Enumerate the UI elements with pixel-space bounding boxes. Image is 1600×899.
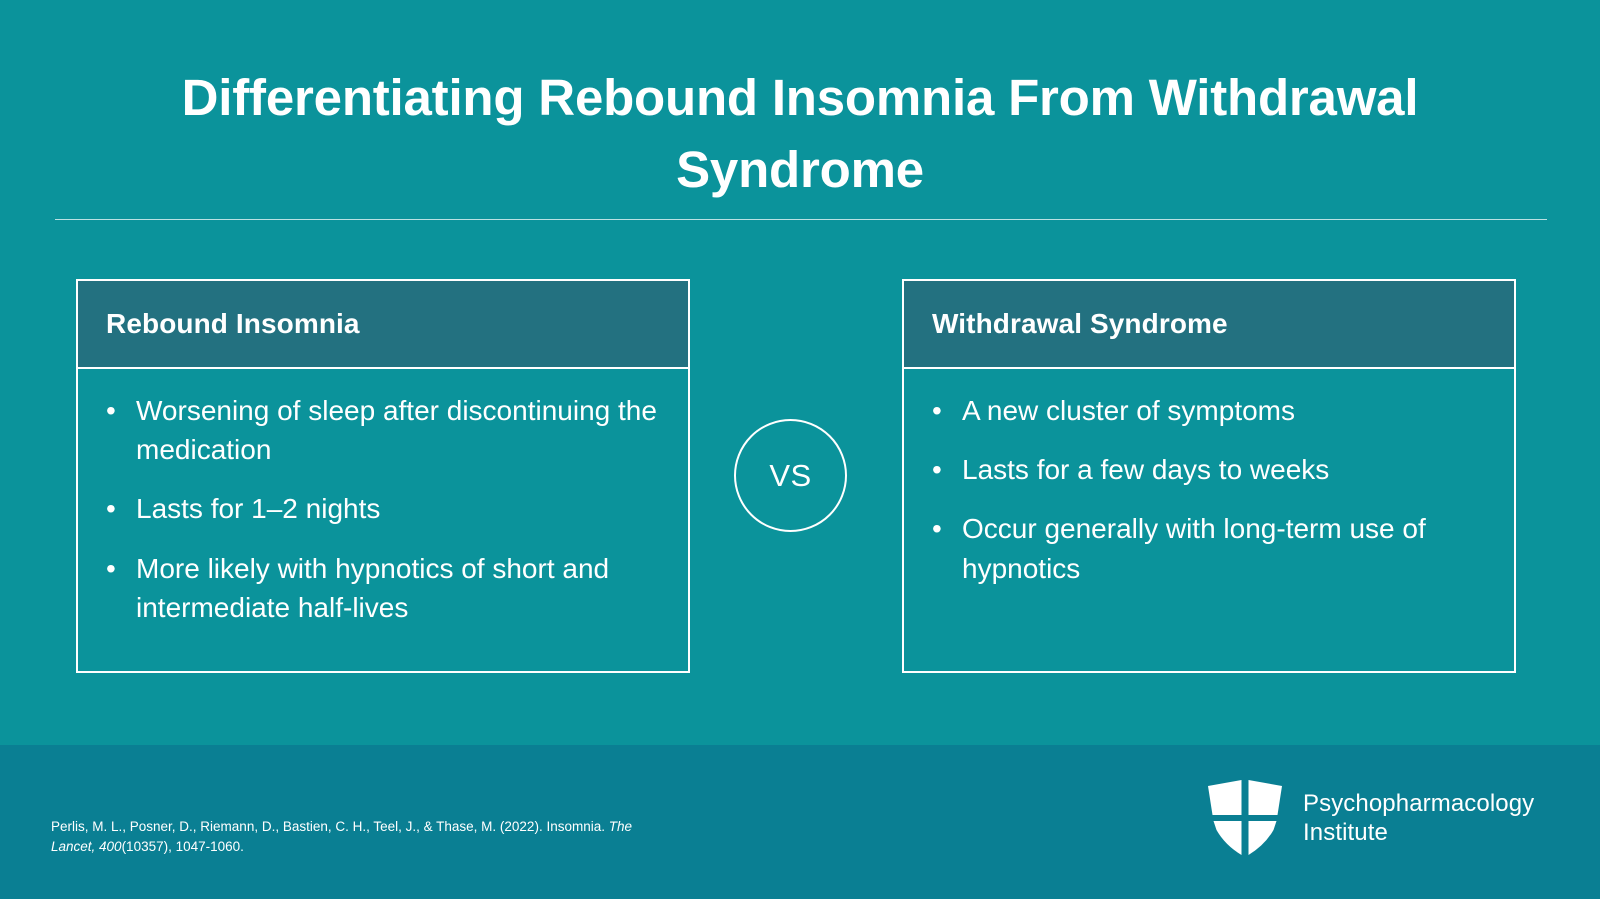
- card-title-withdrawal-syndrome: Withdrawal Syndrome: [932, 308, 1228, 340]
- page-title: Differentiating Rebound Insomnia From Wi…: [0, 62, 1600, 207]
- citation-reference: Perlis, M. L., Posner, D., Riemann, D., …: [51, 817, 671, 856]
- brand-logo: Psychopharmacology Institute: [1204, 776, 1534, 860]
- versus-label: VS: [769, 458, 811, 494]
- card-title-rebound-insomnia: Rebound Insomnia: [106, 308, 360, 340]
- brand-logo-text: Psychopharmacology Institute: [1303, 789, 1534, 848]
- list-item-text: Occur generally with long-term use of hy…: [962, 509, 1488, 587]
- bullet-dot-icon: •: [926, 450, 962, 489]
- list-item-text: More likely with hypnotics of short and …: [136, 549, 662, 627]
- list-item: • More likely with hypnotics of short an…: [100, 549, 662, 627]
- citation-issue-pages: (10357), 1047-1060.: [122, 839, 244, 854]
- bullet-dot-icon: •: [926, 509, 962, 548]
- citation-article: Insomnia.: [546, 819, 605, 834]
- citation-authors-year: Perlis, M. L., Posner, D., Riemann, D., …: [51, 819, 543, 834]
- slide-root: Differentiating Rebound Insomnia From Wi…: [0, 0, 1600, 899]
- bullet-dot-icon: •: [926, 391, 962, 430]
- list-item-text: A new cluster of symptoms: [962, 391, 1488, 430]
- list-item: • A new cluster of symptoms: [926, 391, 1488, 430]
- card-body-withdrawal-syndrome: • A new cluster of symptoms • Lasts for …: [904, 369, 1514, 671]
- card-body-rebound-insomnia: • Worsening of sleep after discontinuing…: [78, 369, 688, 671]
- card-header-rebound-insomnia: Rebound Insomnia: [78, 281, 688, 369]
- card-header-withdrawal-syndrome: Withdrawal Syndrome: [904, 281, 1514, 369]
- brand-name-line-2: Institute: [1303, 818, 1534, 847]
- bullet-list-rebound-insomnia: • Worsening of sleep after discontinuing…: [100, 391, 662, 627]
- comparison-card-withdrawal-syndrome: Withdrawal Syndrome • A new cluster of s…: [902, 279, 1516, 673]
- list-item: • Occur generally with long-term use of …: [926, 509, 1488, 587]
- list-item: • Lasts for 1–2 nights: [100, 489, 662, 528]
- comparison-card-rebound-insomnia: Rebound Insomnia • Worsening of sleep af…: [76, 279, 690, 673]
- bullet-dot-icon: •: [100, 391, 136, 430]
- bullet-dot-icon: •: [100, 549, 136, 588]
- list-item: • Worsening of sleep after discontinuing…: [100, 391, 662, 469]
- list-item: • Lasts for a few days to weeks: [926, 450, 1488, 489]
- bullet-dot-icon: •: [100, 489, 136, 528]
- list-item-text: Lasts for 1–2 nights: [136, 489, 662, 528]
- brand-name-line-1: Psychopharmacology: [1303, 789, 1534, 818]
- title-divider: [55, 219, 1547, 220]
- title-block: Differentiating Rebound Insomnia From Wi…: [0, 62, 1600, 207]
- list-item-text: Lasts for a few days to weeks: [962, 450, 1488, 489]
- list-item-text: Worsening of sleep after discontinuing t…: [136, 391, 662, 469]
- versus-badge: VS: [734, 419, 847, 532]
- shield-quadrant-logo-icon: [1204, 776, 1286, 860]
- bullet-list-withdrawal-syndrome: • A new cluster of symptoms • Lasts for …: [926, 391, 1488, 588]
